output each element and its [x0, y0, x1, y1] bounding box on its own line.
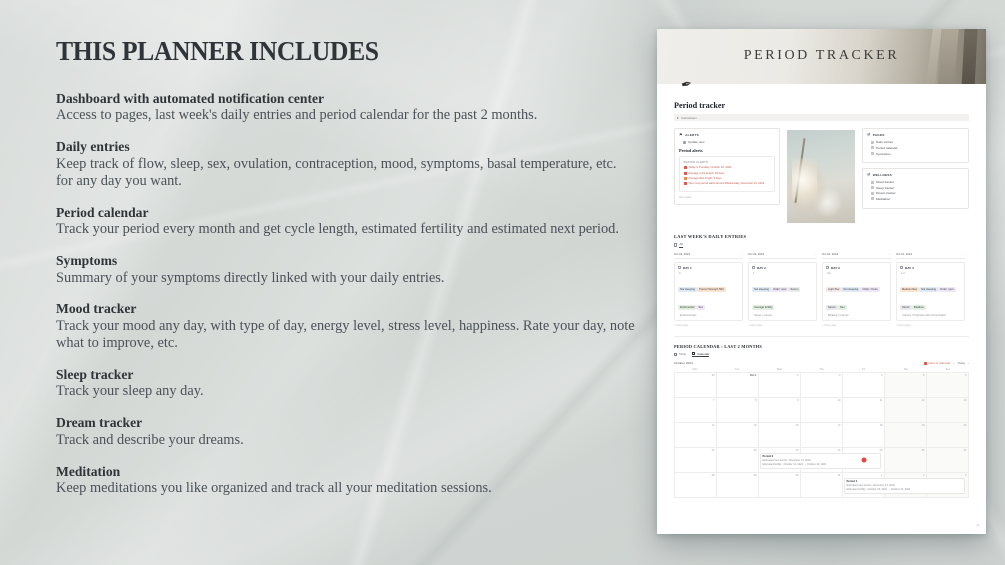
daily-entry-footer-text: Stress | cramps — [754, 314, 772, 317]
feature-description: Track your sleep any day. — [56, 383, 636, 400]
calendar-day-cell[interactable]: 4 — [843, 373, 885, 398]
daily-entry-column-header: Oct 23, 2024... — [748, 252, 817, 259]
daily-entry-tag: Not sleeping — [752, 287, 771, 292]
feature-title: Symptoms — [56, 252, 636, 269]
daily-entry-footer: Cramps | Tiredness with concentration — [900, 314, 961, 317]
daily-entry-card-header: DAY 3 — [826, 266, 887, 270]
calendar-day-number: 9 — [797, 399, 798, 402]
page-link-label: Daily entries — [876, 140, 893, 144]
daily-entry-card-header: DAY 1 — [678, 266, 739, 270]
calendar-view-icon — [692, 352, 695, 355]
daily-entry-card-title: DAY 2 — [757, 266, 766, 270]
calendar-day-number: 5 — [923, 374, 924, 377]
page-icon — [871, 186, 874, 189]
calendar-day-cell[interactable]: 6 — [927, 373, 969, 398]
daily-entry-card-header: DAY 4 — [900, 266, 961, 270]
feature-description: Keep meditations you like organized and … — [56, 480, 636, 497]
feature-block: Dashboard with automated notification ce… — [56, 90, 636, 124]
feature-description: Access to pages, last week's daily entri… — [56, 107, 636, 124]
calendar-event-detail: Estimated fertility : October 24, 2024 →… — [847, 488, 963, 492]
instructions-toggle[interactable]: Instructions — [674, 114, 969, 121]
daily-entry-date: Oct 23, 2024 — [748, 252, 764, 256]
calendar-day-number: 13 — [964, 399, 967, 402]
calendar-day-cell[interactable]: 16 — [759, 423, 801, 448]
daily-entry-tag: Order: Ovule — [860, 287, 879, 292]
calendar-day-number: 21 — [712, 449, 715, 452]
period-alert-text: Your next period starts around Wednesday… — [689, 182, 765, 185]
calendar-day-number: 28 — [712, 474, 715, 477]
daily-entry-tag: Not sleeping — [841, 287, 860, 292]
feature-block: Daily entriesKeep track of flow, sleep, … — [56, 138, 636, 189]
alerts-new-page-button[interactable]: New page — [679, 195, 775, 199]
notion-page-body: Period tracker Instructions ⚑ ALERTS Upd… — [657, 84, 986, 498]
calendar-day-cell[interactable]: 20 — [927, 423, 969, 448]
calendar-day-cell[interactable]: 7 — [675, 398, 717, 423]
calendar-day-number: 16 — [796, 424, 799, 427]
calendar-day-cell[interactable]: Oct 1 — [717, 373, 759, 398]
page-icon — [678, 266, 681, 270]
calendar-day-cell[interactable]: 17 — [801, 423, 843, 448]
alerts-column: ⚑ ALERTS Update now Period alerts PERIOD… — [674, 128, 780, 223]
calendar-day-cell[interactable]: 28 — [675, 473, 717, 498]
daily-entry-tag: Serum — [900, 305, 912, 310]
daily-entries-view-label: All — [679, 242, 682, 248]
period-alerts-box: PERIOD ALERTS Today is Tuesday, October … — [679, 156, 775, 191]
calendar-day-number: 3 — [839, 374, 840, 377]
daily-entry-card[interactable]: DAY 21Not sleepingOrder: spotSerumAverag… — [748, 262, 817, 322]
calendar-day-number: 31 — [838, 474, 841, 477]
feature-description: Track and describe your dreams. — [56, 432, 636, 449]
daily-entry-column: Oct 21, 2024...DAY 41.2Medium flowNot sl… — [896, 252, 965, 327]
daily-entry-subvalue: 1 — [753, 272, 813, 275]
daily-entry-card[interactable]: DAY 10Not sleepingTylenol Strength 500En… — [674, 262, 743, 322]
period-alert-text: Average flow length: 5 days — [689, 177, 722, 180]
calendar-day-cell[interactable]: 1Period 4Estimated next period : Novembe… — [843, 473, 885, 498]
calendar-day-number: Oct 1 — [750, 374, 757, 377]
page-icon — [871, 181, 874, 184]
pages-link-list: Daily entriesPeriod calendarSymptoms — [867, 140, 964, 155]
daily-entry-new-page-button[interactable]: + New page — [896, 324, 965, 327]
features-column: THIS PLANNER INCLUDES Dashboard with aut… — [56, 36, 636, 511]
feature-title: Meditation — [56, 463, 636, 480]
page-link-item[interactable]: Meditation — [871, 197, 964, 201]
column-menu-icon[interactable]: ... — [962, 252, 965, 256]
daily-entry-tag: Order: spot — [938, 287, 955, 292]
calendar-day-number: 12 — [922, 399, 925, 402]
daily-entries-view-tab[interactable]: All — [674, 242, 969, 248]
calendar-day-number: 25 — [880, 449, 883, 452]
alerts-callout: ⚑ ALERTS Update now Period alerts PERIOD… — [674, 128, 780, 204]
daily-entry-tag: Sex — [696, 305, 705, 310]
calendar-event-title: Period 4 — [847, 480, 963, 483]
feature-title: Mood tracker — [56, 300, 636, 317]
page-icon — [871, 192, 874, 195]
daily-entry-tag: Serum — [788, 287, 800, 292]
page-title: THIS PLANNER INCLUDES — [56, 36, 607, 67]
daily-entry-footer: Bloating | Cramps — [826, 314, 887, 317]
daily-entry-tag: Order: spot — [771, 287, 788, 292]
feature-list: Dashboard with automated notification ce… — [56, 90, 636, 497]
page-icon — [871, 152, 874, 155]
calendar-grid: 30Oct 1234567891011121314151617181920212… — [674, 372, 969, 498]
daily-entry-tag: Serum — [826, 305, 838, 310]
period-alerts-label: PERIOD ALERTS — [684, 161, 771, 164]
pages-callout: 🗎 PAGES Daily entriesPeriod calendarSymp… — [862, 128, 969, 163]
feature-description: Track your mood any day, with type of da… — [56, 318, 636, 352]
calendar-day-cell[interactable]: 30 — [675, 373, 717, 398]
daily-entry-column: Oct 23, 2024...DAY 21Not sleepingOrder: … — [748, 252, 817, 327]
calendar-day-cell[interactable]: 31 — [801, 473, 843, 498]
period-alert-item: Average cycle length: 29 days — [684, 172, 771, 175]
calendar-day-cell[interactable]: 21 — [675, 448, 717, 473]
page-link-label: Sleep tracker — [876, 186, 894, 190]
page-link-item[interactable]: Dream tracker — [871, 191, 964, 195]
calendar-day-cell[interactable]: 2 — [759, 373, 801, 398]
calendar-weekday-label: Thu — [800, 368, 842, 371]
calendar-month-label: October 2024 — [674, 361, 693, 365]
calendar-day-number: 2 — [923, 474, 924, 477]
period-alerts-list: Today is Tuesday, October 22, 2024.Avera… — [684, 166, 771, 185]
calendar-controls: Open in Calendar ‹ Today › — [924, 361, 969, 365]
calendar-weekday-label: Tue — [716, 368, 758, 371]
calendar-view-tab[interactable]: Table — [674, 352, 686, 356]
daily-entry-date: Oct 24, 2024 — [674, 252, 690, 256]
calendar-weekday-label: Sat — [885, 368, 927, 371]
table-view-icon — [674, 353, 677, 356]
daily-entry-column-header: Oct 21, 2024... — [896, 252, 965, 259]
wellness-link-list: Mood trackerSleep trackerDream trackerMe… — [867, 180, 964, 201]
calendar-color-dot-icon — [924, 362, 927, 365]
daily-entry-tag: Tylenol Strength 500 — [697, 287, 726, 292]
file-icon: 🗎 — [867, 133, 870, 137]
calendar-day-number: 3 — [965, 474, 966, 477]
calendar-day-number: 24 — [838, 449, 841, 452]
daily-entry-new-page-button[interactable]: + New page — [748, 324, 817, 327]
daily-entry-tag: Not sleeping — [678, 287, 697, 292]
calendar-day-number: 27 — [964, 449, 967, 452]
alerts-update-link[interactable]: Update now — [683, 140, 775, 144]
feature-description: Track your period every month and get cy… — [56, 221, 636, 238]
daily-entry-subvalue: 1.2 — [901, 272, 961, 275]
feature-block: Period calendarTrack your period every m… — [56, 204, 636, 238]
period-alert-item: Today is Tuesday, October 22, 2024. — [684, 166, 771, 169]
calendar-day-cell[interactable]: 19 — [885, 423, 927, 448]
daily-entries-section: LAST WEEK'S DAILY ENTRIES All Oct 24, 20… — [674, 234, 969, 326]
calendar-day-number: 23 — [796, 449, 799, 452]
period-calendar-title: PERIOD CALENDAR : LAST 2 MONTHS — [674, 344, 969, 349]
dashboard-row: ⚑ ALERTS Update now Period alerts PERIOD… — [674, 128, 969, 223]
daily-entry-subvalue: Up — [827, 272, 887, 275]
page-link-item[interactable]: Sleep tracker — [871, 186, 964, 190]
calendar-day-number: 7 — [713, 399, 714, 402]
daily-entry-date: Oct 22, 2024 — [822, 252, 838, 256]
alerts-title: ALERTS — [685, 133, 699, 137]
calendar-next-button[interactable]: › — [968, 361, 969, 365]
column-menu-icon[interactable]: ... — [740, 252, 743, 256]
page-icon — [871, 146, 874, 149]
calendar-day-cell[interactable]: 9 — [759, 398, 801, 423]
alerts-update-label: Update now — [688, 140, 705, 144]
feature-title: Dream tracker — [56, 414, 636, 431]
daily-entry-column: Oct 24, 2024...DAY 10Not sleepingTylenol… — [674, 252, 743, 327]
feature-title: Dashboard with automated notification ce… — [56, 90, 636, 107]
file-icon: 🗎 — [867, 173, 870, 177]
daily-entry-tag: Medium flow — [900, 287, 919, 292]
calendar-day-number: 18 — [880, 424, 883, 427]
calendar-view-tab[interactable]: Calendar — [692, 352, 709, 358]
grid-view-icon — [674, 243, 677, 246]
daily-entries-columns: Oct 24, 2024...DAY 10Not sleepingTylenol… — [674, 252, 969, 327]
feature-title: Sleep tracker — [56, 366, 636, 383]
daily-entry-card-title: DAY 1 — [683, 266, 692, 270]
calendar-prev-button[interactable]: ‹ — [953, 361, 954, 365]
column-menu-icon[interactable]: ... — [814, 252, 817, 256]
page-link-label: Period calendar — [876, 146, 898, 150]
calendar-weekday-label: Sun — [927, 368, 969, 371]
feature-block: Sleep trackerTrack your sleep any day. — [56, 366, 636, 400]
calendar-day-cell[interactable]: 12 — [885, 398, 927, 423]
period-alert-item: Your next period starts around Wednesday… — [684, 182, 771, 185]
period-calendar-tabs: TableCalendar — [674, 352, 969, 358]
alert-dot-icon — [684, 177, 687, 180]
daily-entry-footer-text: Cramps | Tiredness with concentration — [902, 314, 946, 317]
notion-preview-window: PERIOD TRACKER ✒ Period tracker Instruct… — [657, 29, 986, 534]
daily-entry-column: Oct 22, 2024...DAY 3UpLight flowNot slee… — [822, 252, 891, 327]
calendar-day-cell[interactable]: 23Period 3Estimated next period : Novemb… — [759, 448, 801, 473]
notion-cover-banner: PERIOD TRACKER — [657, 29, 986, 84]
feature-block: SymptomsSummary of your symptoms directl… — [56, 252, 636, 286]
page-icon — [871, 197, 874, 200]
alert-dot-icon — [684, 172, 687, 175]
period-alert-text: Average cycle length: 29 days — [689, 172, 725, 175]
bell-icon: ⚑ — [679, 133, 683, 137]
feature-description: Summary of your symptoms directly linked… — [56, 270, 636, 287]
decor-photo — [787, 130, 855, 223]
pages-column: 🗎 PAGES Daily entriesPeriod calendarSymp… — [862, 128, 969, 223]
pages-title: PAGES — [873, 133, 885, 137]
calendar-day-number: 11 — [880, 399, 883, 402]
calendar-day-number: 30 — [712, 374, 715, 377]
calendar-day-cell[interactable]: 18 — [843, 423, 885, 448]
open-in-calendar-label: Open in Calendar — [928, 361, 950, 365]
daily-entry-subvalue: 0 — [679, 272, 739, 275]
daily-entry-tag: Sex — [838, 305, 847, 310]
calendar-day-number: 19 — [922, 424, 925, 427]
page-link-item[interactable]: Period calendar — [871, 146, 964, 150]
wellness-header: 🗎 WELLNESS — [867, 173, 964, 177]
daily-entry-card[interactable]: DAY 3UpLight flowNot sleepingOrder: Ovul… — [822, 262, 891, 322]
daily-entry-tag: Bedtime — [912, 305, 926, 310]
page-link-label: Dream tracker — [876, 191, 896, 195]
daily-entry-card-header: DAY 2 — [752, 266, 813, 270]
page-link-label: Meditation — [876, 197, 890, 201]
calendar-day-number: 1 — [881, 474, 882, 477]
alert-dot-icon — [684, 182, 687, 185]
daily-entry-new-page-button[interactable]: + New page — [674, 324, 743, 327]
calendar-weekday-label: Fri — [843, 368, 885, 371]
banner-title: PERIOD TRACKER — [657, 48, 986, 64]
feature-block: Dream trackerTrack and describe your dre… — [56, 414, 636, 448]
calendar-day-cell[interactable]: 30 — [759, 473, 801, 498]
page-icon — [900, 266, 903, 270]
alerts-header: ⚑ ALERTS — [679, 133, 775, 137]
calendar-view-tab-label: Calendar — [697, 352, 709, 356]
period-calendar-toolbar: October 2024 Open in Calendar ‹ Today › — [674, 361, 969, 365]
calendar-day-number: 8 — [755, 399, 756, 402]
calendar-event-detail: Estimated fertility : October 14, 2024 →… — [763, 463, 879, 467]
calendar-day-number: 6 — [965, 374, 966, 377]
column-menu-icon[interactable]: ... — [888, 252, 891, 256]
calendar-day-number: 17 — [838, 424, 841, 427]
calendar-day-number: 10 — [838, 399, 841, 402]
calendar-weekday-label: Mon — [674, 368, 716, 371]
page-link-item[interactable]: Mood tracker — [871, 180, 964, 184]
daily-entry-column-header: Oct 22, 2024... — [822, 252, 891, 259]
daily-entry-tag: Not sleeping — [919, 287, 938, 292]
calendar-day-number: 14 — [712, 424, 715, 427]
calendar-day-cell[interactable]: 3 — [801, 373, 843, 398]
calendar-day-number: 29 — [754, 474, 757, 477]
resize-handle-icon[interactable]: ⇱ — [977, 523, 980, 528]
calendar-day-cell[interactable]: 15 — [717, 423, 759, 448]
feature-description: Keep track of flow, sleep, sex, ovulatio… — [56, 156, 636, 190]
page-icon — [871, 141, 874, 144]
page-link-item[interactable]: Daily entries — [871, 140, 964, 144]
calendar-day-number: 30 — [796, 474, 799, 477]
daily-entry-footer-text: Endometriosis — [680, 314, 696, 317]
daily-entry-column-header: Oct 24, 2024... — [674, 252, 743, 259]
calendar-weekday-row: MonTueWedThuFriSatSun — [674, 368, 969, 371]
page-link-label: Mood tracker — [876, 180, 894, 184]
calendar-day-number: 26 — [922, 449, 925, 452]
pages-header: 🗎 PAGES — [867, 133, 964, 137]
alert-dot-icon — [684, 166, 687, 169]
daily-entry-card-title: DAY 3 — [831, 266, 840, 270]
instructions-label: Instructions — [681, 116, 697, 120]
feature-title: Period calendar — [56, 204, 636, 221]
wellness-callout: 🗎 WELLNESS Mood trackerSleep trackerDrea… — [862, 168, 969, 208]
calendar-day-cell[interactable]: 27 — [927, 448, 969, 473]
calendar-day-cell[interactable]: 13 — [927, 398, 969, 423]
calendar-day-cell[interactable]: 29 — [717, 473, 759, 498]
daily-entry-tag: Endometrial — [678, 305, 696, 310]
period-alert-text: Today is Tuesday, October 22, 2024. — [689, 166, 733, 169]
daily-entries-title: LAST WEEK'S DAILY ENTRIES — [674, 234, 969, 239]
page-icon — [752, 266, 755, 270]
period-alert-item: Average flow length: 5 days — [684, 177, 771, 180]
chevron-right-icon — [677, 117, 679, 119]
daily-entry-tag: Average fertility — [752, 305, 774, 310]
calendar-day-number: 2 — [797, 374, 798, 377]
calendar-day-cell[interactable]: 5 — [885, 373, 927, 398]
calendar-view-tab-label: Table — [679, 352, 686, 356]
page-link-item[interactable]: Symptoms — [871, 152, 964, 156]
period-calendar-section: PERIOD CALENDAR : LAST 2 MONTHS TableCal… — [674, 336, 969, 498]
page-icon — [826, 266, 829, 270]
daily-entry-footer-text: Bloating | Cramps — [828, 314, 849, 317]
calendar-event-card[interactable]: Period 4Estimated next period : November… — [844, 478, 965, 494]
feature-title: Daily entries — [56, 138, 636, 155]
calendar-day-cell[interactable]: 11 — [843, 398, 885, 423]
calendar-day-cell[interactable]: 14 — [675, 423, 717, 448]
daily-entry-card[interactable]: DAY 41.2Medium flowNot sleepingOrder: sp… — [896, 262, 965, 322]
daily-entry-footer: Endometriosis — [678, 314, 739, 317]
calendar-today-button[interactable]: Today — [957, 361, 965, 365]
daily-entry-new-page-button[interactable]: + New page — [822, 324, 891, 327]
notion-page-heading: Period tracker — [674, 101, 969, 110]
dashboard-photo-column — [787, 128, 855, 223]
database-icon — [683, 141, 686, 144]
daily-entry-card-title: DAY 4 — [905, 266, 914, 270]
calendar-day-cell[interactable]: 8 — [717, 398, 759, 423]
period-alerts-heading: Period alerts — [679, 148, 775, 153]
calendar-day-number: 20 — [964, 424, 967, 427]
daily-entry-footer: Stress | cramps — [752, 314, 813, 317]
period-marker-dot-icon — [861, 457, 866, 462]
calendar-day-cell[interactable]: 22 — [717, 448, 759, 473]
feature-block: MeditationKeep meditations you like orga… — [56, 463, 636, 497]
page-link-label: Symptoms — [876, 152, 891, 156]
calendar-day-cell[interactable]: 26 — [885, 448, 927, 473]
calendar-day-number: 22 — [754, 449, 757, 452]
wellness-title: WELLNESS — [873, 173, 892, 177]
daily-entry-date: Oct 21, 2024 — [896, 252, 912, 256]
daily-entry-tag: Light flow — [826, 287, 841, 292]
calendar-day-cell[interactable]: 10 — [801, 398, 843, 423]
calendar-weekday-label: Wed — [758, 368, 800, 371]
calendar-day-number: 15 — [754, 424, 757, 427]
feature-block: Mood trackerTrack your mood any day, wit… — [56, 300, 636, 351]
open-in-calendar-chip[interactable]: Open in Calendar — [924, 361, 950, 365]
calendar-day-number: 4 — [881, 374, 882, 377]
